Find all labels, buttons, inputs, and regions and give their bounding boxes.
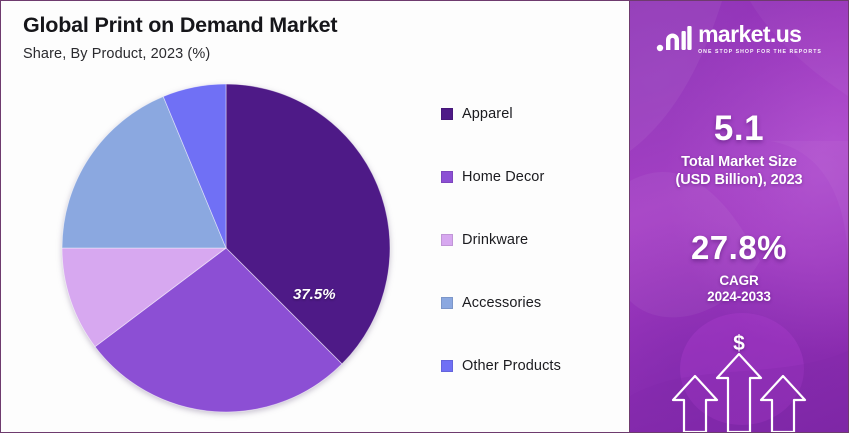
total-market-size-value: 5.1 xyxy=(630,111,848,146)
brand-logo-text: market.us ONE STOP SHOP FOR THE REPORTS xyxy=(698,23,822,55)
infographic-root: Global Print on Demand Market Share, By … xyxy=(0,0,849,433)
legend-item[interactable]: Apparel xyxy=(441,107,621,121)
page-subtitle: Share, By Product, 2023 (%) xyxy=(23,46,210,62)
brand-panel: market.us ONE STOP SHOP FOR THE REPORTS … xyxy=(630,1,848,432)
bar-chart-logo-icon xyxy=(656,24,692,54)
pie-chart: 37.5% xyxy=(61,83,391,413)
chart-panel: Global Print on Demand Market Share, By … xyxy=(1,1,630,432)
total-market-size-label: Total Market Size (USD Billion), 2023 xyxy=(630,154,848,189)
legend-item[interactable]: Accessories xyxy=(441,296,621,310)
brand-name: market.us xyxy=(698,23,801,46)
legend-item-label: Apparel xyxy=(462,106,513,122)
legend-item-label: Home Decor xyxy=(462,169,544,185)
cagr-label-line2: 2024-2033 xyxy=(707,289,771,304)
legend-swatch-icon xyxy=(441,234,453,246)
legend-swatch-icon xyxy=(441,108,453,120)
pie-slice-label-apparel: 37.5% xyxy=(293,286,336,303)
pie-chart-svg xyxy=(61,83,391,413)
page-title: Global Print on Demand Market xyxy=(23,13,337,38)
cagr-value: 27.8% xyxy=(630,231,848,264)
total-market-size-label-line2: (USD Billion), 2023 xyxy=(675,172,802,188)
legend-item[interactable]: Other Products xyxy=(441,359,621,373)
total-market-size-label-line1: Total Market Size xyxy=(681,154,797,170)
legend-swatch-icon xyxy=(441,297,453,309)
cagr-label: CAGR 2024-2033 xyxy=(630,273,848,306)
legend-item-label: Other Products xyxy=(462,358,561,374)
legend-item[interactable]: Home Decor xyxy=(441,170,621,184)
legend-swatch-icon xyxy=(441,171,453,183)
cagr-label-line1: CAGR xyxy=(719,273,758,288)
legend-swatch-icon xyxy=(441,360,453,372)
brand-logo: market.us ONE STOP SHOP FOR THE REPORTS xyxy=(630,23,848,55)
legend-item-label: Drinkware xyxy=(462,232,528,248)
brand-tagline: ONE STOP SHOP FOR THE REPORTS xyxy=(698,49,822,55)
pie-slice-group xyxy=(62,84,390,412)
chart-legend: ApparelHome DecorDrinkwareAccessoriesOth… xyxy=(441,107,621,422)
growth-arrows-icon xyxy=(630,352,848,432)
legend-item[interactable]: Drinkware xyxy=(441,233,621,247)
dollar-icon: $ xyxy=(630,333,848,354)
legend-item-label: Accessories xyxy=(462,295,541,311)
